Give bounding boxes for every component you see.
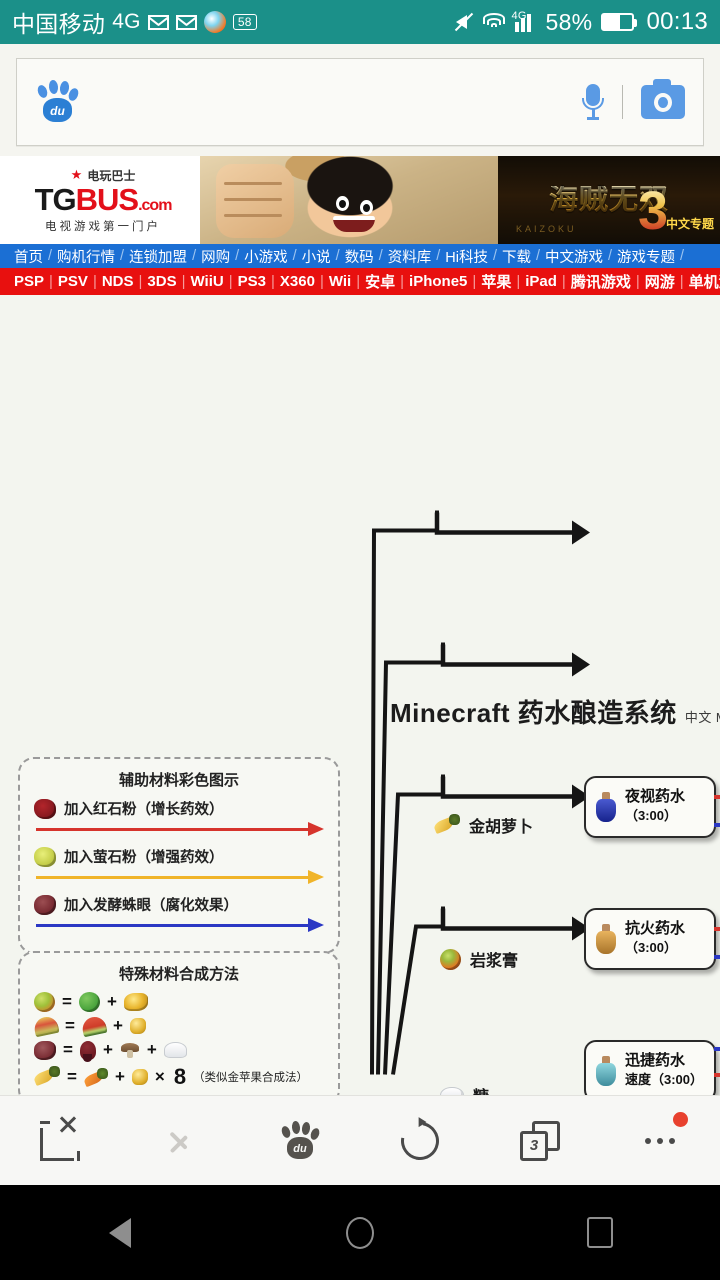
spider-eye-icon xyxy=(80,1041,96,1060)
tabs-icon: 3 xyxy=(520,1121,560,1161)
baidu-du-text: du xyxy=(287,1137,313,1159)
platform-apple[interactable]: 苹果 xyxy=(477,271,515,292)
equals-sign: = xyxy=(65,1016,75,1036)
page-title: Minecraft 药水酿造系统中文 Minecr xyxy=(390,693,720,730)
craft-box: 特殊材料合成方法 = + = + = xyxy=(18,951,340,1095)
blaze-powder-icon xyxy=(124,993,148,1011)
tgbus-dotcom: .com xyxy=(138,197,171,214)
potion-node-night-vision[interactable]: 夜视药水 （3:00） xyxy=(584,776,716,838)
wifi-icon xyxy=(482,13,506,31)
game-ad-romaji: KAIZOKU xyxy=(516,224,577,234)
craft-box-title: 特殊材料合成方法 xyxy=(34,963,324,984)
platform-ipad[interactable]: iPad xyxy=(521,273,561,290)
ingredient-golden-carrot: 金胡萝卜 xyxy=(434,813,533,837)
search-input[interactable]: du xyxy=(16,58,704,146)
potion-text: 迅捷药水 速度（3:00） xyxy=(625,1052,703,1090)
status-bar-left: 中国移动 4G 58 xyxy=(12,5,453,39)
edge-arrow-red xyxy=(714,795,720,799)
mail-icon xyxy=(176,15,197,30)
platform-ps3[interactable]: PS3 xyxy=(234,273,270,290)
platform-x360[interactable]: X360 xyxy=(276,273,319,290)
gold-nugget-icon xyxy=(130,1018,146,1034)
edge-arrow-red xyxy=(714,1073,720,1077)
phone-screen: 中国移动 4G 58 4G 58% 00:13 du xyxy=(0,0,720,1280)
potion-name: 迅捷药水 xyxy=(625,1052,685,1069)
network-type-label: 4G xyxy=(112,10,141,34)
battery-percent-label: 58% xyxy=(546,9,593,36)
platform-standalone-games[interactable]: 单机游戏 xyxy=(685,271,720,292)
platform-online-games[interactable]: 网游 xyxy=(641,271,679,292)
reload-icon xyxy=(394,1114,447,1167)
nav-item-novels[interactable]: 小说 xyxy=(298,246,335,267)
platform-psv[interactable]: PSV xyxy=(54,273,92,290)
sugar-icon xyxy=(440,1087,464,1096)
platform-nav[interactable]: PSP| PSV| NDS| 3DS| WiiU| PS3| X360| Wii… xyxy=(0,268,720,295)
potion-name: 抗火药水 xyxy=(625,920,685,937)
legend-label: 加入萤石粉（增强药效） xyxy=(64,846,224,867)
sugar-icon xyxy=(164,1042,187,1058)
back-icon xyxy=(109,1218,131,1248)
close-window-icon xyxy=(40,1121,80,1161)
platform-android[interactable]: 安卓 xyxy=(361,271,399,292)
craft-row: = + xyxy=(34,992,324,1012)
home-icon xyxy=(346,1217,374,1249)
fermented-spider-eye-icon xyxy=(34,1041,56,1060)
legend-row: 加入发酵蛛眼（腐化效果） xyxy=(34,894,324,915)
equals-sign: = xyxy=(62,992,72,1012)
nav-item-home[interactable]: 首页 xyxy=(10,246,47,267)
battery-icon xyxy=(601,13,634,31)
character-art xyxy=(200,156,498,244)
baidu-home-icon: du xyxy=(280,1121,320,1161)
equals-sign: = xyxy=(67,1067,77,1087)
platform-psp[interactable]: PSP xyxy=(10,273,48,290)
swiftness-potion-icon xyxy=(595,1056,617,1086)
tgbus-wordmark: TGBUS.com xyxy=(35,184,172,215)
ingredient-label: 岩浆膏 xyxy=(470,947,518,971)
glowstone-dust-icon xyxy=(34,847,56,867)
edge-arrow-blue xyxy=(714,1047,720,1051)
edge-arrow-red xyxy=(714,927,720,931)
game-ad-subtitle: 中文专题 xyxy=(666,215,714,232)
nav-item-database[interactable]: 资料库 xyxy=(384,246,436,267)
potion-duration: 速度（3:00） xyxy=(625,1072,703,1087)
legend-row: 加入萤石粉（增强药效） xyxy=(34,846,324,867)
edge-arrow-blue xyxy=(714,823,720,827)
more-menu-button[interactable] xyxy=(614,1096,706,1186)
nav-item-download[interactable]: 下载 xyxy=(498,246,535,267)
fermented-spider-eye-icon xyxy=(34,895,56,915)
android-navigation-bar xyxy=(0,1185,720,1280)
nav-item-chinese-games[interactable]: 中文游戏 xyxy=(541,246,607,267)
site-banner[interactable]: ★ 电玩巴士 TGBUS.com 电视游戏第一门户 海贼无双 3 中文专题 KA… xyxy=(0,156,720,244)
nav-item-digital[interactable]: 数码 xyxy=(341,246,378,267)
status-bar: 中国移动 4G 58 4G 58% 00:13 xyxy=(0,0,720,44)
plus-sign: + xyxy=(115,1067,125,1087)
notification-dot xyxy=(673,1112,688,1127)
android-recents-button[interactable] xyxy=(540,1185,660,1280)
potion-text: 夜视药水 （3:00） xyxy=(625,788,685,826)
more-menu-icon xyxy=(645,1138,675,1144)
forward-button[interactable] xyxy=(134,1096,226,1186)
clock-label: 00:13 xyxy=(646,8,708,36)
search-area: du xyxy=(0,44,720,156)
browser-content: du ★ 电玩巴士 TGBUS.com 电视游戏第一门户 xyxy=(0,44,720,1095)
plus-sign: + xyxy=(107,992,117,1012)
fire-resistance-potion-icon xyxy=(595,924,617,954)
equals-sign: = xyxy=(63,1040,73,1060)
carrier-label: 中国移动 xyxy=(12,5,105,39)
potion-duration: （3:00） xyxy=(625,940,677,955)
potion-text: 抗火药水 （3:00） xyxy=(625,920,685,958)
tabs-count-label: 3 xyxy=(520,1131,548,1161)
melon-slice-icon xyxy=(80,1015,107,1038)
platform-nds[interactable]: NDS xyxy=(98,273,138,290)
nav-item-buying-guide[interactable]: 购机行情 xyxy=(53,246,119,267)
edge-arrow-blue xyxy=(714,955,720,959)
potion-node-fire-resistance[interactable]: 抗火药水 （3:00） xyxy=(584,908,716,970)
browser-toolbar: du 3 xyxy=(0,1095,720,1185)
camera-icon[interactable] xyxy=(641,85,685,119)
recents-icon xyxy=(587,1217,613,1248)
glistering-melon-icon xyxy=(32,1015,59,1038)
close-window-button[interactable] xyxy=(14,1096,106,1186)
page-title-suffix: 中文 Minecr xyxy=(685,710,720,725)
baidu-paw-logo-icon: du xyxy=(35,80,79,124)
platform-3ds[interactable]: 3DS xyxy=(143,273,180,290)
plus-sign: + xyxy=(103,1040,113,1060)
nav-item-shopping[interactable]: 网购 xyxy=(197,246,234,267)
slimeball-icon xyxy=(79,992,100,1012)
ingredient-sugar: 糖 xyxy=(440,1083,489,1095)
plus-sign: + xyxy=(113,1016,123,1036)
tgbus-tg: TG xyxy=(35,182,76,217)
redstone-dust-icon xyxy=(34,799,56,819)
night-vision-potion-icon xyxy=(595,792,617,822)
tgbus-tagline: 电视游戏第一门户 xyxy=(45,218,161,234)
unread-badge: 58 xyxy=(233,14,257,30)
mail-icon xyxy=(148,15,169,30)
craft-row: = + × 8 （类似金苹果合成法） xyxy=(34,1064,324,1090)
golden-carrot-icon xyxy=(34,1066,60,1088)
plus-sign: + xyxy=(147,1040,157,1060)
baidu-du-text: du xyxy=(43,98,72,122)
legend-box: 辅助材料彩色图示 加入红石粉（增长药效） 加入萤石粉（增强药效） xyxy=(18,757,340,954)
craft-note: （类似金苹果合成法） xyxy=(193,1069,308,1085)
platform-tencent-games[interactable]: 腾讯游戏 xyxy=(567,271,635,292)
magma-cream-icon xyxy=(440,949,461,970)
multiplier-value: 8 xyxy=(174,1064,186,1090)
app-icon xyxy=(204,11,226,33)
nav-item-mini-games[interactable]: 小游戏 xyxy=(240,246,292,267)
game-ad-panel[interactable]: 海贼无双 3 中文专题 KAIZOKU xyxy=(498,156,720,244)
nav-item-game-topics[interactable]: 游戏专题 xyxy=(613,246,679,267)
potion-name: 夜视药水 xyxy=(625,788,685,805)
microphone-icon[interactable] xyxy=(582,82,604,122)
tabs-button[interactable]: 3 xyxy=(494,1096,586,1186)
golden-carrot-icon xyxy=(434,814,460,836)
game-ad-number: 3 xyxy=(638,184,668,238)
primary-nav[interactable]: 首页/ 购机行情/ 连锁加盟/ 网购/ 小游戏/ 小说/ 数码/ 资料库/ Hi… xyxy=(0,244,720,268)
page-title-main: Minecraft 药水酿造系统 xyxy=(390,698,677,728)
carrot-icon xyxy=(84,1068,108,1086)
ingredient-magma-cream: 岩浆膏 xyxy=(440,947,518,971)
nav-separator: / xyxy=(679,248,685,264)
magma-cream-icon xyxy=(34,992,55,1012)
multiply-sign: × xyxy=(155,1067,165,1087)
brown-mushroom-icon xyxy=(120,1041,140,1059)
craft-row: = + xyxy=(34,1016,324,1036)
nav-item-franchise[interactable]: 连锁加盟 xyxy=(125,246,191,267)
status-bar-right: 4G 58% 00:13 xyxy=(453,8,709,36)
legend-arrow-red xyxy=(34,821,324,837)
legend-box-title: 辅助材料彩色图示 xyxy=(34,769,324,790)
ingredient-label: 金胡萝卜 xyxy=(469,813,533,837)
baidu-home-button[interactable]: du xyxy=(254,1096,346,1186)
tgbus-logo[interactable]: ★ 电玩巴士 TGBUS.com 电视游戏第一门户 xyxy=(0,156,200,244)
ingredient-label: 糖 xyxy=(473,1083,489,1095)
article-body: Minecraft 药水酿造系统中文 Minecr xyxy=(0,295,720,1095)
legend-arrow-blue xyxy=(34,917,324,933)
legend-label: 加入红石粉（增长药效） xyxy=(64,798,224,819)
legend-row: 加入红石粉（增长药效） xyxy=(34,798,324,819)
legend-label: 加入发酵蛛眼（腐化效果） xyxy=(64,894,238,915)
platform-wii[interactable]: Wii xyxy=(325,273,355,290)
mute-icon xyxy=(453,12,473,32)
potion-duration: （3:00） xyxy=(625,808,677,823)
platform-wiiu[interactable]: WiiU xyxy=(187,273,228,290)
gold-nugget-icon xyxy=(132,1069,148,1085)
craft-row: = + + xyxy=(34,1040,324,1060)
potion-node-swiftness[interactable]: 迅捷药水 速度（3:00） xyxy=(584,1040,716,1095)
reload-button[interactable] xyxy=(374,1096,466,1186)
forward-icon xyxy=(169,1122,191,1160)
android-back-button[interactable] xyxy=(60,1185,180,1280)
nav-item-hitech[interactable]: Hi科技 xyxy=(441,246,492,267)
divider xyxy=(622,85,623,119)
banner-artwork[interactable] xyxy=(200,156,498,244)
legend-arrow-yellow xyxy=(34,869,324,885)
platform-iphone5[interactable]: iPhone5 xyxy=(405,273,471,290)
tgbus-bus: BUS xyxy=(76,182,138,217)
android-home-button[interactable] xyxy=(300,1185,420,1280)
signal-icon: 4G xyxy=(515,13,537,32)
